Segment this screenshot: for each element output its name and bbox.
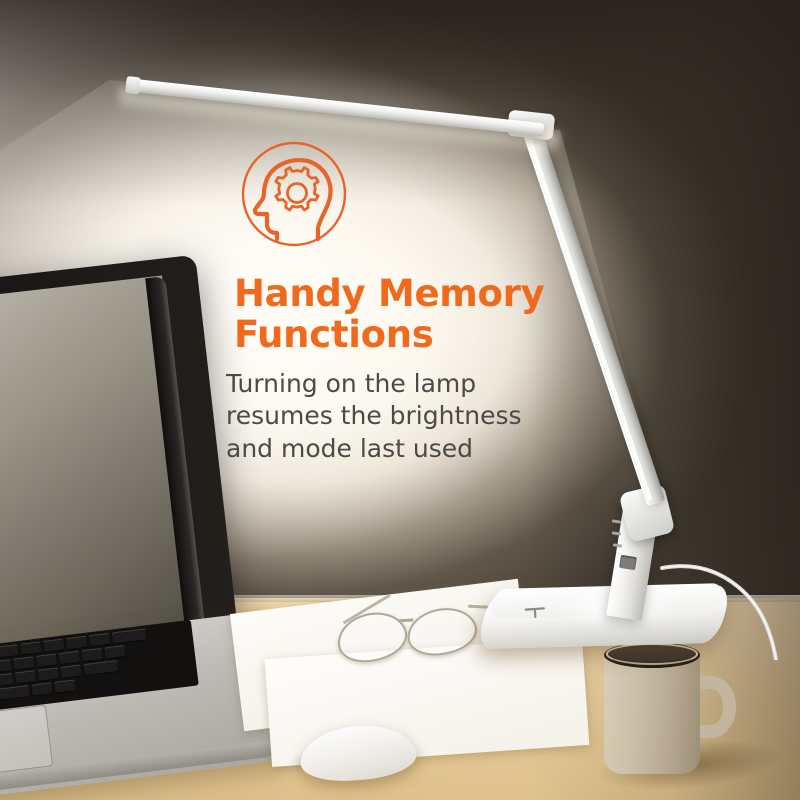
key[interactable] (82, 648, 103, 661)
key[interactable] (0, 673, 13, 686)
key[interactable] (0, 685, 30, 700)
headline-line-1: Handy Memory (234, 273, 562, 314)
headline-line-2: Functions (234, 314, 562, 355)
key[interactable] (83, 660, 118, 675)
feature-text-block: Handy Memory Functions Turning on the la… (222, 140, 562, 465)
key[interactable] (38, 667, 59, 680)
body-line-1: Turning on the lamp (226, 368, 562, 401)
mug-rim (606, 643, 698, 665)
key[interactable] (59, 651, 80, 664)
key[interactable] (104, 645, 125, 658)
key[interactable] (15, 670, 36, 683)
key[interactable] (0, 659, 12, 672)
coffee-mug (604, 650, 700, 774)
key[interactable] (112, 628, 147, 643)
key[interactable] (31, 682, 52, 695)
lamp-head-end-cap (125, 76, 141, 94)
key[interactable] (43, 638, 64, 651)
head-with-gear-icon (236, 140, 356, 250)
feature-headline: Handy Memory Functions (234, 273, 562, 356)
feature-body-text: Turning on the lamp resumes the brightne… (226, 368, 562, 466)
key[interactable] (20, 641, 41, 654)
body-line-3: and mode last used (226, 433, 562, 466)
key[interactable] (89, 633, 110, 646)
usb-charging-port[interactable] (619, 555, 637, 570)
key[interactable] (54, 679, 75, 692)
body-line-2: resumes the brightness (226, 400, 562, 433)
product-feature-scene: Handy Memory Functions Turning on the la… (0, 0, 800, 800)
key[interactable] (0, 644, 19, 657)
key[interactable] (61, 665, 82, 678)
wireless-charging-icon (524, 605, 547, 619)
key[interactable] (13, 656, 34, 669)
key[interactable] (66, 636, 87, 649)
key[interactable] (36, 653, 57, 666)
eyeglasses-bridge (399, 619, 413, 622)
